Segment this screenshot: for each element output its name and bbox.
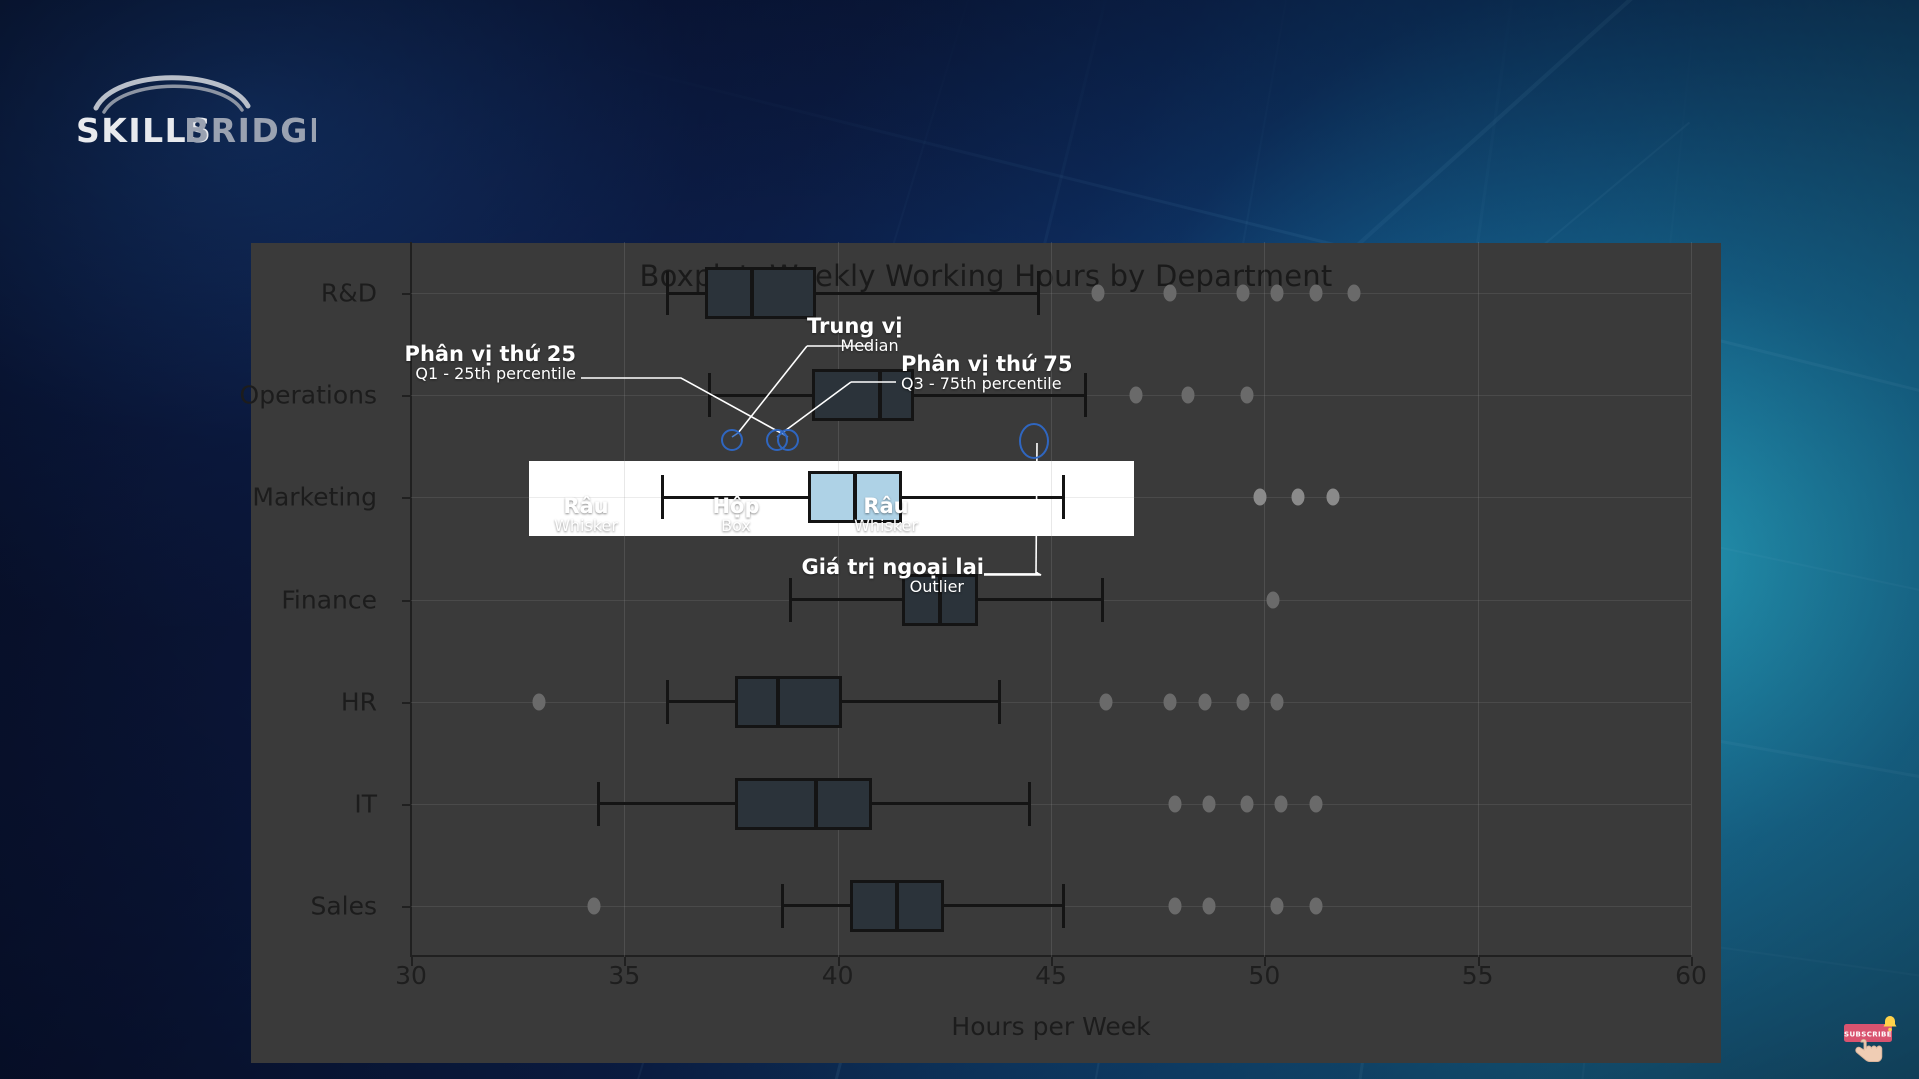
logo-text-bridge: BRIDGE: [184, 111, 316, 144]
chart-panel: Boxplot: Weekly Working Hours by Departm…: [251, 243, 1721, 1063]
skills-bridge-logo: SKILLS BRIDGE: [76, 62, 316, 144]
subscribe-overlay[interactable]: SUBSCRIBE: [1840, 1012, 1908, 1070]
annotation-leader-lines: [251, 243, 1721, 1063]
subscribe-label: SUBSCRIBE: [1844, 1031, 1892, 1039]
